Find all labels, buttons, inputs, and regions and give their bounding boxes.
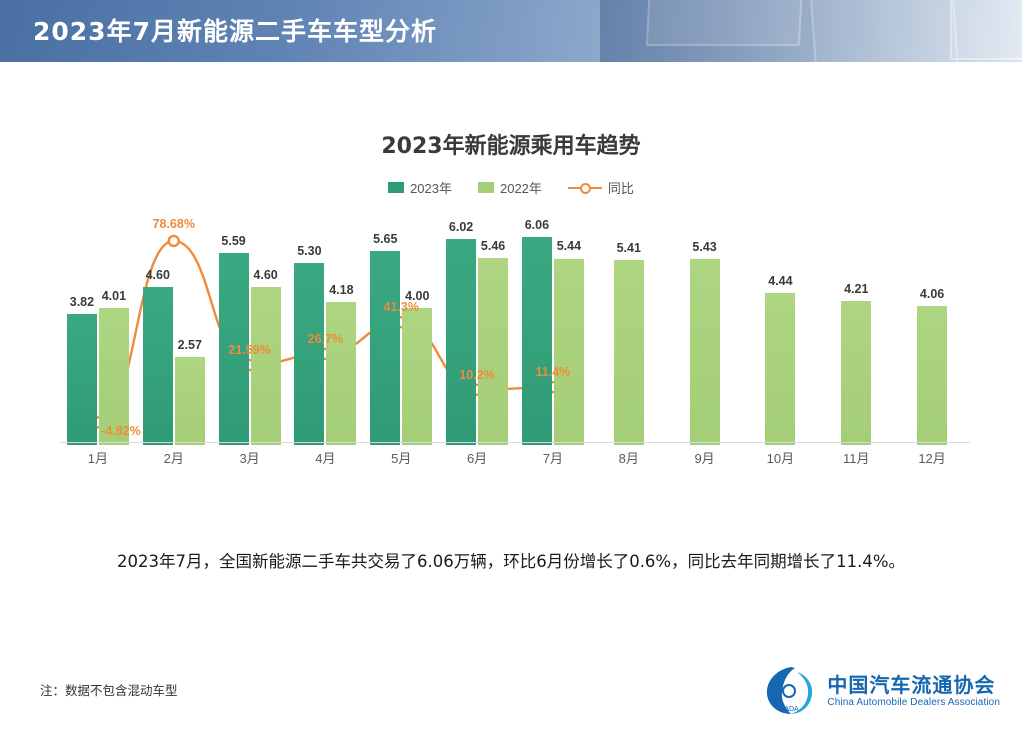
yoy-value-label: 41.3% [356, 300, 446, 314]
bar-2022年-6月 [478, 258, 508, 445]
chart-title: 2023年新能源乘用车趋势 [0, 128, 1022, 160]
x-tick-4月: 4月 [288, 448, 364, 467]
bar-2022年-7月 [554, 259, 584, 446]
bar-value-label: 5.30 [285, 244, 333, 258]
bar-value-label: 4.21 [832, 282, 880, 296]
logo-name-en: China Automobile Dealers Association [827, 697, 1000, 709]
bar-2023年-6月 [446, 239, 476, 445]
legend-line-marker-icon [568, 182, 602, 193]
x-tick-2月: 2月 [136, 448, 212, 467]
x-tick-1月: 1月 [60, 448, 136, 467]
legend-item-2023: 2023年 [388, 178, 452, 197]
association-logo: CADA 中国汽车流通协会 China Automobile Dealers A… [761, 664, 1000, 718]
chart-plot-area: 3.824.605.595.305.656.026.064.012.574.60… [60, 205, 970, 445]
bar-2022年-4月 [326, 302, 356, 445]
bar-2022年-8月 [614, 260, 644, 445]
bar-value-label: 6.02 [437, 220, 485, 234]
page-title: 2023年7月新能源二手车车型分析 [33, 12, 437, 48]
x-tick-6月: 6月 [439, 448, 515, 467]
bar-2022年-9月 [690, 259, 720, 445]
bar-value-label: 4.01 [90, 289, 138, 303]
x-tick-11月: 11月 [818, 448, 894, 467]
bar-2022年-2月 [175, 357, 205, 445]
svg-text:CADA: CADA [780, 706, 800, 713]
bar-value-label: 6.06 [513, 218, 561, 232]
bar-2022年-12月 [917, 306, 947, 445]
x-tick-12月: 12月 [894, 448, 970, 467]
bar-value-label: 4.44 [756, 274, 804, 288]
bar-value-label: 5.46 [469, 239, 517, 253]
header-gradient-overlay [600, 0, 1022, 62]
bar-value-label: 5.43 [681, 240, 729, 254]
bar-2023年-7月 [522, 237, 552, 445]
chart-legend: 2023年 2022年 同比 [0, 178, 1022, 197]
yoy-line-marker [169, 236, 179, 246]
legend-label-2022: 2022年 [500, 178, 542, 197]
summary-text: 2023年7月，全国新能源二手车共交易了6.06万辆，环比6月份增长了0.6%，… [0, 548, 1022, 572]
logo-name-cn: 中国汽车流通协会 [827, 674, 1000, 697]
legend-item-2022: 2022年 [478, 178, 542, 197]
bar-2022年-3月 [251, 287, 281, 445]
legend-swatch-2022 [478, 182, 494, 193]
bar-value-label: 5.59 [210, 234, 258, 248]
x-tick-10月: 10月 [743, 448, 819, 467]
bar-value-label: 4.60 [242, 268, 290, 282]
x-tick-7月: 7月 [515, 448, 591, 467]
yoy-value-label: -4.82% [76, 424, 166, 438]
cada-logo-icon: CADA [761, 664, 817, 718]
bar-2023年-5月 [370, 251, 400, 445]
chart-x-tick-labels: 1月2月3月4月5月6月7月8月9月10月11月12月 [60, 448, 970, 472]
chart-x-axis [60, 442, 970, 443]
yoy-value-label: 78.68% [129, 217, 219, 231]
x-tick-3月: 3月 [212, 448, 288, 467]
legend-label-yoy: 同比 [608, 178, 634, 197]
x-tick-5月: 5月 [363, 448, 439, 467]
bar-2023年-2月 [143, 287, 173, 445]
logo-text-block: 中国汽车流通协会 China Automobile Dealers Associ… [827, 674, 1000, 709]
bar-value-label: 4.06 [908, 287, 956, 301]
bar-value-label: 5.44 [545, 239, 593, 253]
bar-2022年-5月 [402, 308, 432, 445]
yoy-value-label: 26.7% [280, 332, 370, 346]
yoy-value-label: 11.4% [508, 365, 598, 379]
x-tick-9月: 9月 [667, 448, 743, 467]
bar-value-label: 4.18 [317, 283, 365, 297]
bar-value-label: 5.65 [361, 232, 409, 246]
bar-2022年-10月 [765, 293, 795, 445]
legend-item-yoy: 同比 [568, 178, 634, 197]
legend-label-2023: 2023年 [410, 178, 452, 197]
bar-2022年-11月 [841, 301, 871, 445]
legend-swatch-2023 [388, 182, 404, 193]
bar-value-label: 4.60 [134, 268, 182, 282]
x-tick-8月: 8月 [591, 448, 667, 467]
footnote: 注：数据不包含混动车型 [40, 680, 178, 699]
bar-value-label: 5.41 [605, 241, 653, 255]
